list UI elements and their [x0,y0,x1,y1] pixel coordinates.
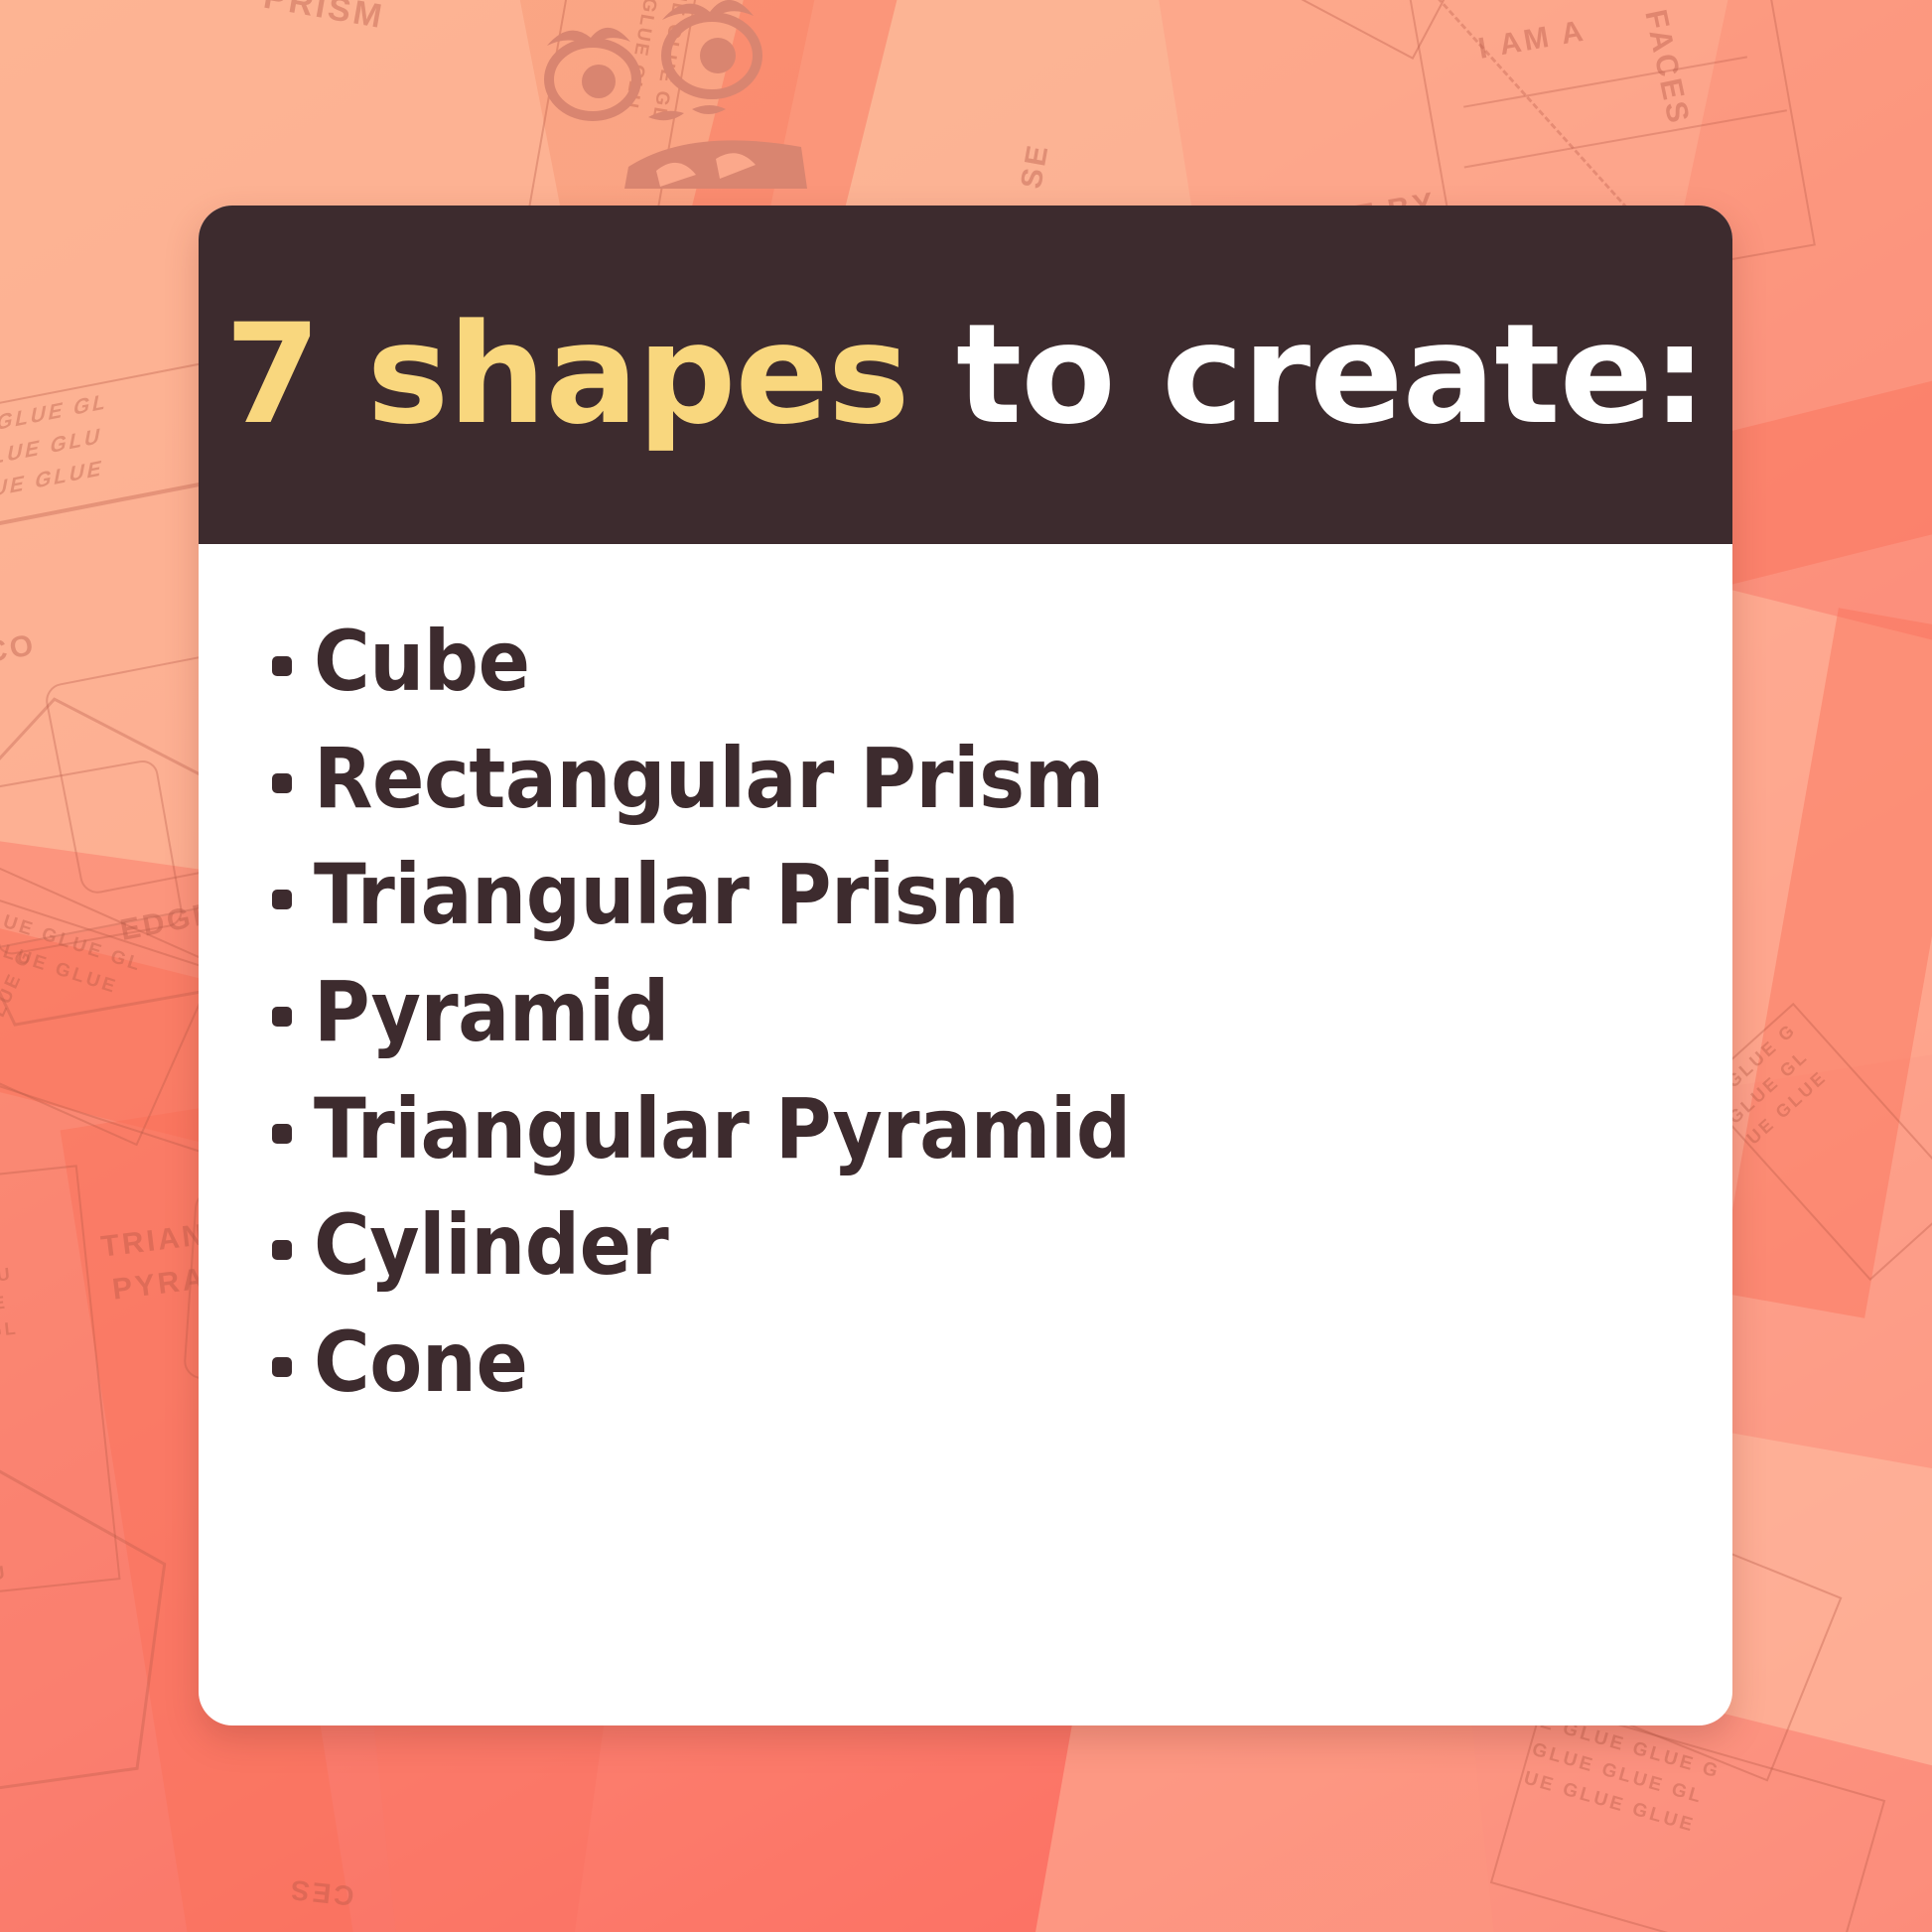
list-item-label: Triangular Pyramid [314,1087,1131,1173]
list-item: Cube [258,620,1673,705]
list-item-label: Cone [314,1320,527,1406]
list-item: Triangular Pyramid [258,1087,1673,1173]
list-item: Rectangular Prism [258,737,1673,822]
shapes-card: 7 shapes to create: Cube Rectangular Pri… [199,206,1732,1725]
list-item-label: Rectangular Prism [314,737,1104,822]
list-item-label: Pyramid [314,970,669,1055]
page-title: 7 shapes to create: [224,306,1706,444]
list-item: Triangular Prism [258,853,1673,938]
page-title-accent: 7 shapes [224,294,908,455]
shape-list: Cube Rectangular Prism Triangular Prism … [258,620,1673,1406]
bullet-icon [272,1240,292,1260]
monster-face-decoration [521,0,819,189]
list-item: Pyramid [258,970,1673,1055]
card-body: Cube Rectangular Prism Triangular Prism … [199,544,1732,1725]
list-item-label: Triangular Prism [314,853,1019,938]
bullet-icon [272,890,292,909]
list-item-label: Cylinder [314,1203,668,1289]
bullet-icon [272,656,292,676]
bullet-icon [272,773,292,793]
bullet-icon [272,1007,292,1027]
bullet-icon [272,1357,292,1377]
list-item: Cylinder [258,1203,1673,1289]
list-item-label: Cube [314,620,530,705]
bullet-icon [272,1124,292,1144]
card-header: 7 shapes to create: [199,206,1732,544]
background-label: CES [287,1873,356,1912]
list-item: Cone [258,1320,1673,1406]
page-title-rest: to create: [909,294,1707,455]
